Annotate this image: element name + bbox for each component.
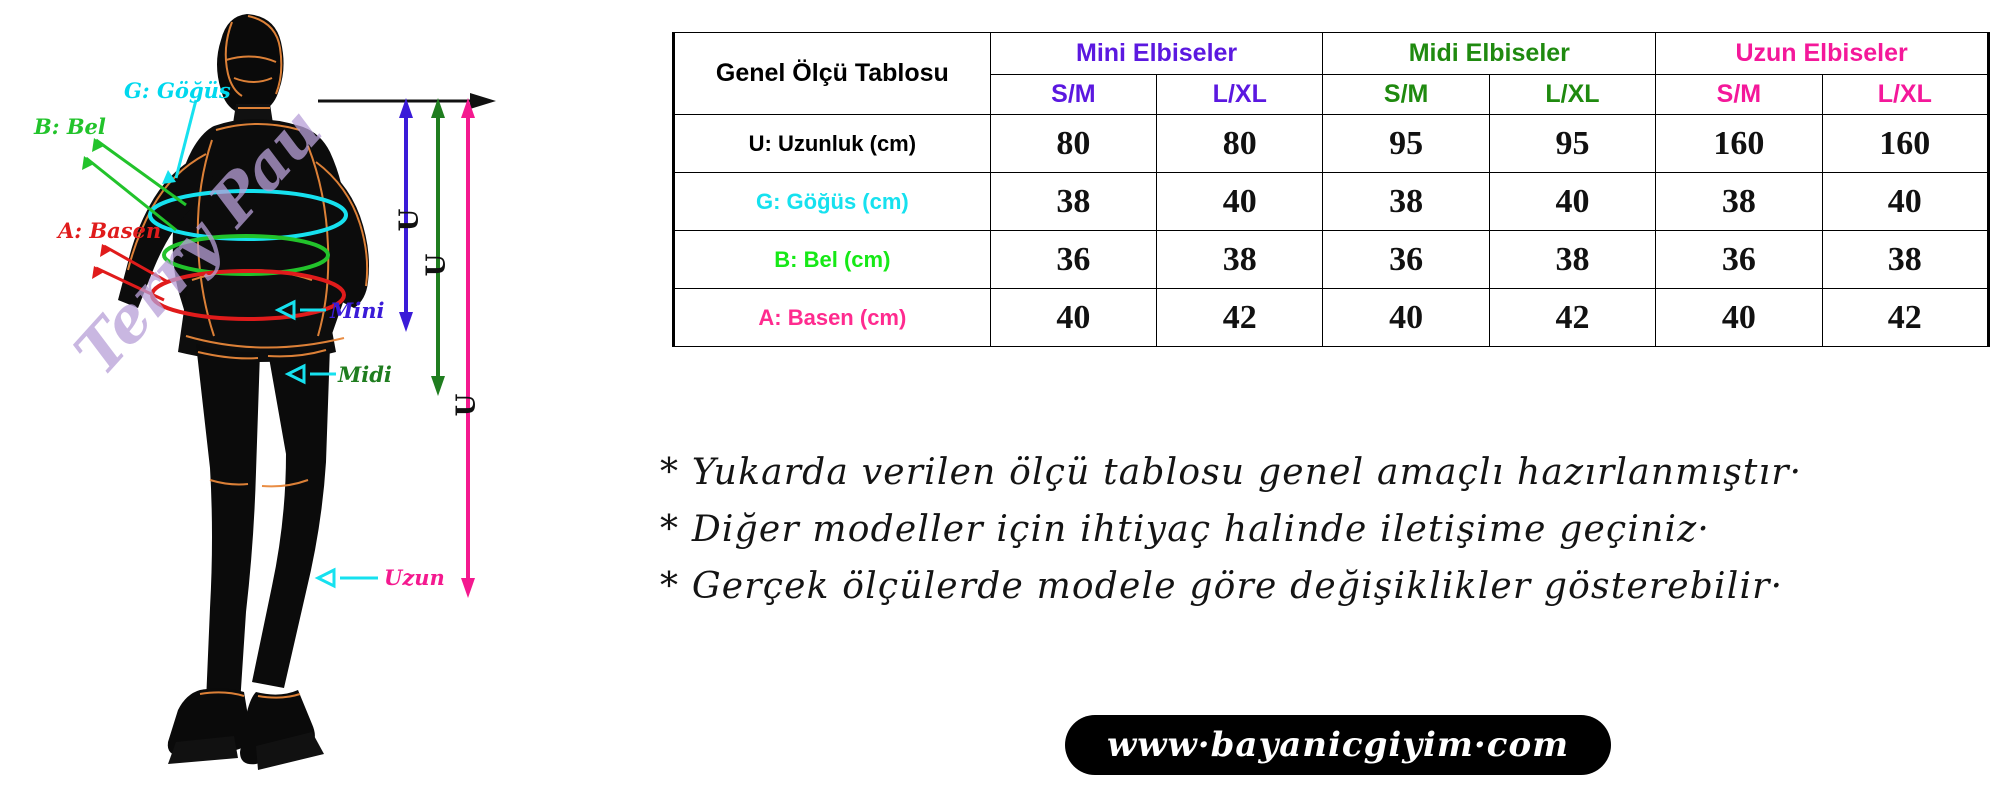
- measurement-table: Genel Ölçü Tablosu Mini Elbiseler Midi E…: [672, 32, 1990, 347]
- table-corner-label: Genel Ölçü Tablosu: [674, 33, 991, 115]
- size-header-uzun-sm: S/M: [1656, 75, 1822, 115]
- cell-basen-uzun-sm: 40: [1656, 289, 1822, 347]
- size-header-mini-lxl: L/XL: [1157, 75, 1323, 115]
- table-group-header-row: Genel Ölçü Tablosu Mini Elbiseler Midi E…: [674, 33, 1989, 75]
- cell-basen-uzun-lxl: 42: [1822, 289, 1988, 347]
- size-header-uzun-lxl: L/XL: [1822, 75, 1988, 115]
- table-row-bel: B: Bel (cm) 36 38 36 38 36 38: [674, 231, 1989, 289]
- annotation-uzun: Uzun: [384, 565, 445, 590]
- table-row-uzunluk: U: Uzunluk (cm) 80 80 95 95 160 160: [674, 115, 1989, 173]
- annotation-basen: A: Basen: [58, 218, 161, 243]
- cell-uzunluk-midi-sm: 95: [1323, 115, 1489, 173]
- length-tick-uzun: U: [451, 394, 481, 417]
- cell-gogus-uzun-sm: 38: [1656, 173, 1822, 231]
- note-line-2: * Diğer modeller için ihtiyaç halinde il…: [660, 509, 2010, 550]
- group-header-midi: Midi Elbiseler: [1323, 33, 1656, 75]
- size-header-midi-sm: S/M: [1323, 75, 1489, 115]
- row-label-uzunluk: U: Uzunluk (cm): [674, 115, 991, 173]
- annotation-bel: B: Bel: [34, 114, 106, 139]
- cell-bel-midi-sm: 36: [1323, 231, 1489, 289]
- cell-bel-mini-lxl: 38: [1157, 231, 1323, 289]
- annotation-midi: Midi: [338, 362, 392, 387]
- annotation-mini: Mini: [330, 298, 384, 323]
- note-line-3: * Gerçek ölçülerde modele göre değişikli…: [660, 566, 2010, 607]
- table-row-basen: A: Basen (cm) 40 42 40 42 40 42: [674, 289, 1989, 347]
- cell-uzunluk-uzun-lxl: 160: [1822, 115, 1988, 173]
- cell-bel-uzun-sm: 36: [1656, 231, 1822, 289]
- cell-uzunluk-mini-lxl: 80: [1157, 115, 1323, 173]
- row-label-gogus: G: Göğüs (cm): [674, 173, 991, 231]
- website-url-text: www·bayanicgiyim·com: [1107, 725, 1569, 765]
- length-tick-midi: U: [421, 254, 451, 277]
- cell-basen-mini-sm: 40: [990, 289, 1156, 347]
- group-header-mini: Mini Elbiseler: [990, 33, 1323, 75]
- note-line-1: * Yukarda verilen ölçü tablosu genel ama…: [660, 452, 2010, 493]
- cell-basen-midi-lxl: 42: [1489, 289, 1655, 347]
- cell-gogus-midi-lxl: 40: [1489, 173, 1655, 231]
- measurement-table-wrapper: Genel Ölçü Tablosu Mini Elbiseler Midi E…: [672, 32, 1990, 347]
- cell-uzunluk-uzun-sm: 160: [1656, 115, 1822, 173]
- row-label-basen: A: Basen (cm): [674, 289, 991, 347]
- cell-gogus-mini-sm: 38: [990, 173, 1156, 231]
- row-label-bel: B: Bel (cm): [674, 231, 991, 289]
- cell-gogus-mini-lxl: 40: [1157, 173, 1323, 231]
- cell-bel-midi-lxl: 38: [1489, 231, 1655, 289]
- figure-silhouette: [118, 14, 369, 770]
- group-header-uzun: Uzun Elbiseler: [1656, 33, 1989, 75]
- mannequin-illustration: Terry Pau G: Göğüs B: Bel A: Basen Mini …: [0, 0, 660, 811]
- cell-gogus-uzun-lxl: 40: [1822, 173, 1988, 231]
- cell-bel-uzun-lxl: 38: [1822, 231, 1988, 289]
- cell-basen-midi-sm: 40: [1323, 289, 1489, 347]
- cell-bel-mini-sm: 36: [990, 231, 1156, 289]
- size-header-midi-lxl: L/XL: [1489, 75, 1655, 115]
- top-baseline-arrowhead: [470, 93, 496, 109]
- length-tick-mini: U: [394, 209, 424, 232]
- cell-uzunluk-midi-lxl: 95: [1489, 115, 1655, 173]
- size-chart-graphic: Terry Pau G: Göğüs B: Bel A: Basen Mini …: [0, 0, 2010, 811]
- website-url-banner[interactable]: www·bayanicgiyim·com: [1065, 715, 1611, 775]
- notes-block: * Yukarda verilen ölçü tablosu genel ama…: [660, 452, 2010, 623]
- annotation-gogus: G: Göğüs: [124, 78, 231, 103]
- cell-basen-mini-lxl: 42: [1157, 289, 1323, 347]
- table-row-gogus: G: Göğüs (cm) 38 40 38 40 38 40: [674, 173, 1989, 231]
- cell-uzunluk-mini-sm: 80: [990, 115, 1156, 173]
- cell-gogus-midi-sm: 38: [1323, 173, 1489, 231]
- size-header-mini-sm: S/M: [990, 75, 1156, 115]
